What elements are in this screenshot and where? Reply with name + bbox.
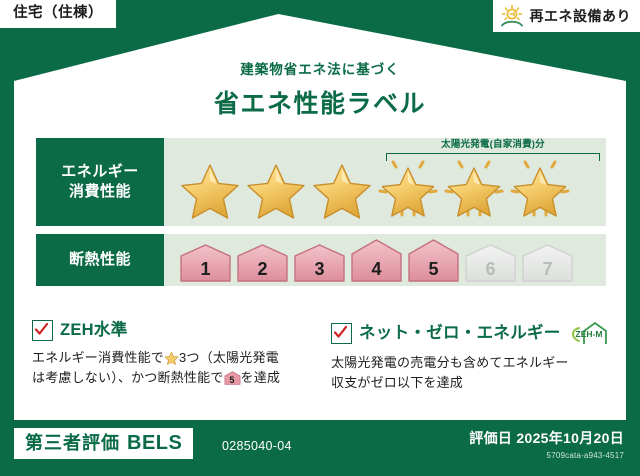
star-icon-solar xyxy=(442,157,506,219)
insulation-level-badge: 1 xyxy=(178,243,233,283)
statement-net-zero-energy: ネット・ゼロ・エネルギー ZEH-M 太陽光発電の売電分も含めてエネルギー 収支… xyxy=(331,320,612,393)
insulation-level-badge-inactive: 6 xyxy=(463,243,518,283)
label-subtitle: 建築物省エネ法に基づく xyxy=(0,58,640,78)
statement-zeh-text-4: を達成 xyxy=(241,370,281,385)
insulation-level-value: 3 xyxy=(292,260,347,278)
bels-number: 0285040-04 xyxy=(222,440,292,453)
star-icon xyxy=(244,157,308,219)
statement-nze-header: ネット・ゼロ・エネルギー ZEH-M xyxy=(331,320,612,346)
energy-performance-label: 住宅（住棟） 再エネ設備あり 建築物省エネ法に基づく xyxy=(0,0,640,476)
statement-nze-body: 太陽光発電の売電分も含めてエネルギー 収支がゼロ以下を達成 xyxy=(331,353,612,393)
insulation-level-value: 7 xyxy=(520,260,575,278)
zeh-m-logo-icon: ZEH-M xyxy=(565,320,609,346)
statement-zeh-body: エネルギー消費性能で3つ（太陽光発電 は考慮しない）、かつ断熱性能で5を達成 xyxy=(32,348,313,388)
svg-text:ZEH-M: ZEH-M xyxy=(575,329,602,339)
insulation-level-value: 2 xyxy=(235,260,290,278)
statement-zeh-header: ZEH水準 xyxy=(32,320,313,341)
footer-bar: 第三者評価 BELS 0285040-04 評価日 2025年10月20日 57… xyxy=(0,420,640,476)
insulation-level-badge: 5 xyxy=(406,238,461,283)
insulation-level-value: 5 xyxy=(406,260,461,278)
energy-name-line1: エネルギー xyxy=(61,162,139,182)
solar-annotation-label: 太陽光発電(自家消費)分 xyxy=(386,140,600,150)
bels-en-label: BELS xyxy=(127,433,182,453)
statement-zeh-text-2: 3つ（太陽光発電 xyxy=(179,350,279,365)
star-icon xyxy=(310,157,374,219)
insulation-scale: 1 2 3 xyxy=(164,238,575,283)
statement-zeh-text-1: エネルギー消費性能で xyxy=(32,350,164,365)
house-type-chip: 住宅（住棟） xyxy=(0,0,116,28)
star-rating xyxy=(164,157,572,219)
statement-nze-title: ネット・ゼロ・エネルギー xyxy=(359,325,561,342)
statements-block: ZEH水準 エネルギー消費性能で3つ（太陽光発電 は考慮しない）、かつ断熱性能で… xyxy=(32,320,612,393)
evaluation-date: 評価日 2025年10月20日 xyxy=(469,431,624,445)
insulation-performance-value: 1 2 3 xyxy=(164,234,606,286)
house-type-label: 住宅（住棟） xyxy=(13,5,103,21)
row-insulation-performance: 断熱性能 1 xyxy=(36,234,606,286)
insulation-level-badge: 2 xyxy=(235,243,290,283)
star-icon-solar xyxy=(376,157,440,219)
star-icon xyxy=(178,157,242,219)
metric-rows: エネルギー 消費性能 太陽光発電(自家消費)分 xyxy=(36,138,606,294)
insulation-name-line1: 断熱性能 xyxy=(69,250,131,270)
row-energy-performance: エネルギー 消費性能 太陽光発電(自家消費)分 xyxy=(36,138,606,226)
star-icon-solar xyxy=(508,157,572,219)
renewable-badge-label: 再エネ設備あり xyxy=(530,9,632,23)
insulation-performance-name: 断熱性能 xyxy=(36,234,164,286)
energy-performance-value: 太陽光発電(自家消費)分 xyxy=(164,138,606,226)
label-title: 省エネ性能ラベル xyxy=(0,84,640,120)
insulation-level-value: 6 xyxy=(463,260,518,278)
evaluation-code: 5709cata-a943-4517 xyxy=(547,452,624,460)
check-icon xyxy=(331,323,352,344)
evaluation-date-value: 2025年10月20日 xyxy=(516,430,624,446)
evaluation-date-label: 評価日 xyxy=(469,430,512,446)
check-icon xyxy=(32,320,53,341)
statement-zeh-title: ZEH水準 xyxy=(60,322,128,339)
title-block: 建築物省エネ法に基づく 省エネ性能ラベル xyxy=(0,58,640,120)
insulation-level-value: 4 xyxy=(349,260,404,278)
insulation-level-value: 1 xyxy=(178,260,233,278)
insulation-level-icon-value: 5 xyxy=(224,376,241,385)
renewable-energy-badge: 再エネ設備あり xyxy=(493,0,640,32)
insulation-level-badge: 3 xyxy=(292,243,347,283)
insulation-level-icon-inline: 5 xyxy=(224,370,241,386)
statement-nze-text-2: 収支がゼロ以下を達成 xyxy=(331,375,463,390)
star-icon-inline xyxy=(164,350,179,365)
sun-icon xyxy=(499,4,525,28)
insulation-level-badge: 4 xyxy=(349,238,404,283)
insulation-level-badge-inactive: 7 xyxy=(520,243,575,283)
bels-ja-label: 第三者評価 xyxy=(25,434,120,452)
statement-zeh: ZEH水準 エネルギー消費性能で3つ（太陽光発電 は考慮しない）、かつ断熱性能で… xyxy=(32,320,313,393)
statement-zeh-text-3: は考慮しない）、かつ断熱性能で xyxy=(32,370,224,385)
bels-chip: 第三者評価 BELS xyxy=(14,428,193,459)
energy-name-line2: 消費性能 xyxy=(69,182,131,202)
statement-nze-text-1: 太陽光発電の売電分も含めてエネルギー xyxy=(331,355,569,370)
energy-performance-name: エネルギー 消費性能 xyxy=(36,138,164,226)
